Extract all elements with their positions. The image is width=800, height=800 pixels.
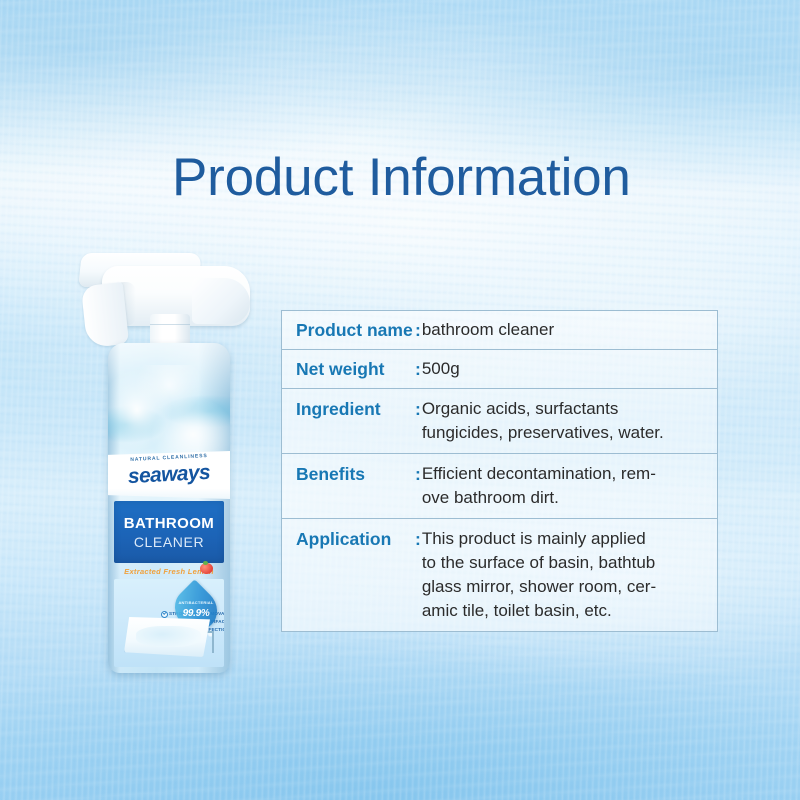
product-type-line-1: BATHROOM: [114, 515, 224, 532]
sprayer-nozzle: [192, 278, 250, 324]
product-spec-table: Product name : bathroom cleaner Net weig…: [281, 310, 718, 632]
spec-row-ingredient: Ingredient : Organic acids, surfactants …: [282, 389, 717, 454]
spec-value: bathroom cleaner: [422, 318, 709, 342]
spec-value-cell: : Efficient decontamination, rem- ove ba…: [415, 454, 717, 518]
sprayer-collar: [150, 314, 190, 346]
lemon-fruit-icon: [200, 563, 213, 574]
spec-value-cell: : Organic acids, surfactants fungicides,…: [415, 389, 717, 453]
product-type-panel: BATHROOM CLEANER: [114, 501, 224, 563]
bathtub-illustration: [124, 617, 210, 657]
spec-value: This product is mainly applied to the su…: [422, 527, 709, 623]
spec-value: Organic acids, surfactants fungicides, p…: [422, 397, 709, 445]
spec-label: Ingredient: [282, 389, 415, 429]
spec-colon: :: [415, 357, 422, 381]
bathtub-inner-basin: [136, 626, 201, 647]
product-type-line-2: CLEANER: [114, 534, 224, 550]
spec-row-product-name: Product name : bathroom cleaner: [282, 311, 717, 350]
spec-value-cell: : bathroom cleaner: [415, 311, 717, 349]
bottle-lower-scene: STRONG DIRT REMOVAL PROTECT TILE SURFACE…: [114, 579, 224, 667]
spec-label: Application: [282, 519, 415, 559]
spec-colon: :: [415, 527, 422, 623]
spec-label: Product name: [282, 311, 415, 349]
spec-value-cell: : This product is mainly applied to the …: [415, 519, 717, 631]
spec-row-benefits: Benefits : Efficient decontamination, re…: [282, 454, 717, 519]
spec-label: Benefits: [282, 454, 415, 494]
spec-value: Efficient decontamination, rem- ove bath…: [422, 462, 709, 510]
trigger-sprayer-icon: [72, 248, 252, 358]
spec-colon: :: [415, 462, 422, 510]
page-title: Product Information: [172, 150, 631, 206]
droplet-badge-caption: ANTIBACTERIAL: [176, 600, 216, 605]
sprayer-trigger-lever: [81, 282, 129, 348]
faucet-icon: [212, 631, 214, 653]
bottle-body: NATURAL CLEANLINESS seaways BATHROOM CLE…: [108, 343, 230, 673]
spec-value-cell: : 500g: [415, 350, 717, 388]
product-information-poster: Product Information NATURAL CLEANLINESS …: [0, 0, 800, 800]
spec-row-application: Application : This product is mainly app…: [282, 519, 717, 631]
product-bottle-image: NATURAL CLEANLINESS seaways BATHROOM CLE…: [72, 248, 252, 673]
spec-value: 500g: [422, 357, 709, 381]
spec-colon: :: [415, 318, 422, 342]
spec-label: Net weight: [282, 350, 415, 388]
spec-row-net-weight: Net weight : 500g: [282, 350, 717, 389]
spec-colon: :: [415, 397, 422, 445]
droplet-badge-value: 99.9%: [176, 608, 216, 619]
